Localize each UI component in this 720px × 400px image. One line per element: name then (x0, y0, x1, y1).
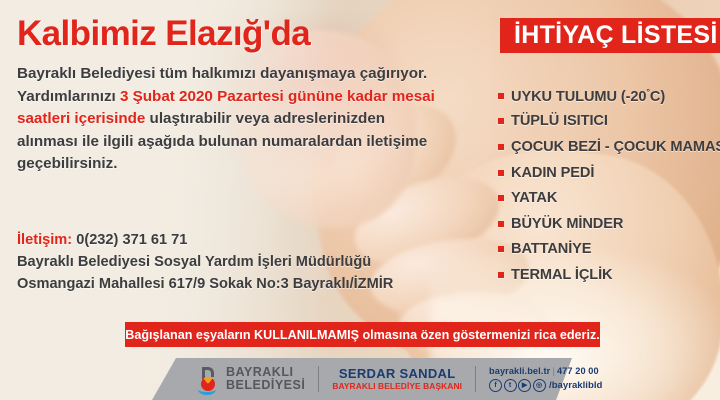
needs-list: UYKU TULUMU (-20°C) TÜPLÜ ISITICI ÇOCUK … (498, 83, 720, 288)
website-separator: | (550, 366, 557, 376)
bullet-square-icon (498, 118, 504, 124)
list-item-text-end: C) (650, 89, 665, 105)
list-item: TERMAL İÇLİK (498, 262, 720, 288)
needs-list-header: İHTİYAÇ LİSTESİ (500, 18, 720, 53)
notice-banner: Bağışlanan eşyaların KULLANILMAMIŞ olmas… (125, 322, 600, 347)
body-line-4: alınması ile ilgili aşağıda bulunan numa… (17, 131, 487, 154)
needs-list-header-label: İHTİYAÇ LİSTESİ (500, 21, 718, 50)
body-line-5: geçebilirsiniz. (17, 153, 487, 176)
mayor-block: SERDAR SANDAL BAYRAKLI BELEDİYE BAŞKANI (332, 367, 462, 392)
body-line-3-post: ulaştırabilir veya adreslerinizden (145, 110, 385, 127)
body-line-2: Yardımlarınızı 3 Şubat 2020 Pazartesi gü… (17, 86, 487, 109)
bayrakli-flag-icon (196, 366, 220, 392)
body-line-2-pre: Yardımlarınızı (17, 88, 120, 105)
bullet-square-icon (498, 144, 504, 150)
list-item-label: YATAK (511, 190, 557, 206)
mayor-name: SERDAR SANDAL (332, 367, 462, 382)
body-hours-highlight: saatleri içerisinde (17, 110, 145, 127)
municipality-logo-text: BAYRAKLI BELEDİYESİ (226, 366, 305, 392)
list-item-label: KADIN PEDİ (511, 165, 594, 181)
list-item: KADIN PEDİ (498, 160, 720, 186)
contact-phone-row: İletişim: 0(232) 371 61 71 (17, 229, 487, 251)
list-item: BATTANİYE (498, 237, 720, 263)
bullet-square-icon (498, 93, 504, 99)
municipality-logo: BAYRAKLI BELEDİYESİ (196, 358, 305, 400)
contact-department: Bayraklı Belediyesi Sosyal Yardım İşleri… (17, 251, 487, 273)
contact-label: İletişim: (17, 232, 72, 248)
list-item-label: UYKU TULUMU (-20°C) (511, 87, 665, 105)
twitter-icon[interactable]: t (504, 379, 517, 392)
notice-text: Bağışlanan eşyaların KULLANILMAMIŞ olmas… (125, 328, 600, 342)
footer-content: BAYRAKLI BELEDİYESİ SERDAR SANDAL BAYRAK… (0, 358, 720, 400)
footer: BAYRAKLI BELEDİYESİ SERDAR SANDAL BAYRAK… (0, 358, 720, 400)
list-item-label: BÜYÜK MİNDER (511, 216, 623, 232)
list-item: TÜPLÜ ISITICI (498, 109, 720, 135)
instagram-icon[interactable]: ◎ (533, 379, 546, 392)
body-line-3: saatleri içerisinde ulaştırabilir veya a… (17, 108, 487, 131)
list-item: BÜYÜK MİNDER (498, 211, 720, 237)
list-item: YATAK (498, 185, 720, 211)
logo-line-2: BELEDİYESİ (226, 379, 305, 392)
contact-phone: 0(232) 371 61 71 (76, 232, 187, 248)
mayor-title: BAYRAKLI BELEDİYE BAŞKANI (332, 382, 462, 392)
social-links: f t ▶ ◎ /bayraklibld (489, 379, 602, 392)
facebook-icon[interactable]: f (489, 379, 502, 392)
footer-divider (475, 366, 476, 392)
body-date-highlight: 3 Şubat 2020 Pazartesi gününe kadar mesa… (120, 88, 435, 105)
bullet-square-icon (498, 246, 504, 252)
contact-address: Osmangazi Mahallesi 617/9 Sokak No:3 Bay… (17, 273, 487, 295)
contact-block: İletişim: 0(232) 371 61 71 Bayraklı Bele… (17, 229, 487, 296)
social-handle[interactable]: /bayraklibld (549, 380, 602, 392)
body-copy: Bayraklı Belediyesi tüm halkımızı dayanı… (17, 63, 487, 176)
list-item-label: ÇOCUK BEZİ - ÇOCUK MAMASI (511, 139, 720, 155)
list-item-text: UYKU TULUMU (-20 (511, 89, 646, 105)
bullet-square-icon (498, 195, 504, 201)
bullet-square-icon (498, 272, 504, 278)
list-item: ÇOCUK BEZİ - ÇOCUK MAMASI (498, 134, 720, 160)
body-line-1: Bayraklı Belediyesi tüm halkımızı dayanı… (17, 63, 487, 86)
list-item-label: TÜPLÜ ISITICI (511, 113, 608, 129)
contact-web-block: bayrakli.bel.tr|477 20 00 f t ▶ ◎ /bayra… (489, 366, 602, 392)
bullet-square-icon (498, 221, 504, 227)
website-url[interactable]: bayrakli.bel.tr (489, 366, 550, 376)
list-item-label: TERMAL İÇLİK (511, 267, 613, 283)
bullet-square-icon (498, 170, 504, 176)
youtube-icon[interactable]: ▶ (518, 379, 531, 392)
poster-canvas: Kalbimiz Elazığ'da Bayraklı Belediyesi t… (0, 0, 720, 400)
footer-phone: 477 20 00 (557, 366, 599, 376)
list-item-label: BATTANİYE (511, 241, 591, 257)
list-item: UYKU TULUMU (-20°C) (498, 83, 720, 109)
website-row: bayrakli.bel.tr|477 20 00 (489, 366, 602, 377)
footer-divider (318, 366, 319, 392)
page-title: Kalbimiz Elazığ'da (17, 14, 310, 54)
